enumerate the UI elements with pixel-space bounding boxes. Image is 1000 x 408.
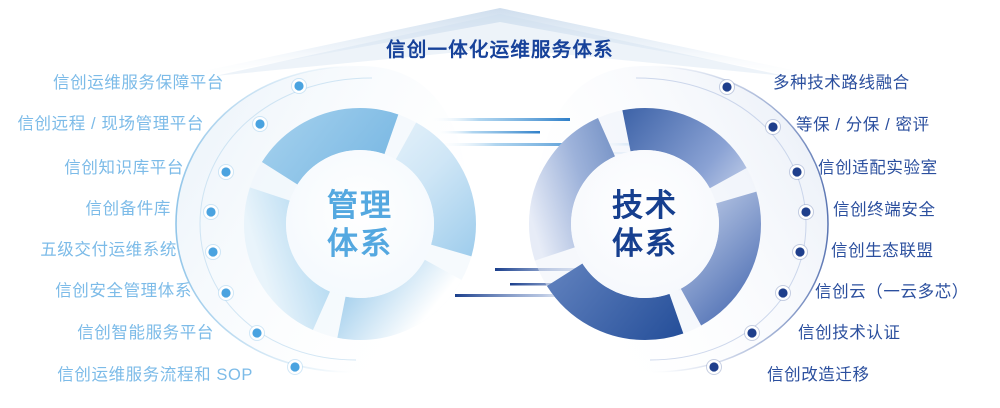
left-connector-dot[interactable]: [219, 286, 234, 301]
right-connector-dot[interactable]: [793, 245, 808, 260]
right-connector-dot[interactable]: [707, 360, 722, 375]
left-label-item[interactable]: 信创运维服务保障平台: [0, 75, 224, 92]
right-label-item[interactable]: 信创技术认证: [798, 325, 901, 342]
right-label-item[interactable]: 信创生态联盟: [831, 243, 934, 260]
left-label-item[interactable]: 信创安全管理体系: [0, 283, 192, 300]
right-ring-title: 技术 体系: [571, 187, 719, 263]
right-ring-title-line2: 体系: [571, 225, 719, 263]
left-connector-dot[interactable]: [204, 205, 219, 220]
left-label-item[interactable]: 信创备件库: [0, 201, 171, 218]
right-label-item[interactable]: 信创适配实验室: [818, 160, 938, 177]
right-connector-dot[interactable]: [776, 286, 791, 301]
infographic-canvas: 信创一体化运维服务体系 管理 体系 技术 体系 信创运维服务保障平台信创远程 /…: [0, 0, 1000, 408]
right-connector-dot[interactable]: [720, 80, 735, 95]
left-ring-title: 管理 体系: [286, 187, 434, 263]
left-connector-dot[interactable]: [219, 165, 234, 180]
left-connector-dot[interactable]: [206, 245, 221, 260]
right-label-item[interactable]: 等保 / 分保 / 密评: [796, 117, 930, 134]
left-connector-dot[interactable]: [253, 117, 268, 132]
left-connector-dot[interactable]: [250, 326, 265, 341]
left-label-item[interactable]: 信创知识库平台: [0, 160, 184, 177]
right-connector-dot[interactable]: [799, 205, 814, 220]
left-ring-title-line2: 体系: [286, 225, 434, 263]
left-label-item[interactable]: 五级交付运维系统: [0, 242, 177, 259]
right-label-item[interactable]: 多种技术路线融合: [773, 75, 910, 92]
right-label-item[interactable]: 信创改造迁移: [767, 367, 870, 384]
right-connector-dot[interactable]: [790, 165, 805, 180]
left-label-item[interactable]: 信创运维服务流程和 SOP: [0, 367, 253, 384]
right-connector-dot[interactable]: [766, 120, 781, 135]
left-ring-title-line1: 管理: [286, 187, 434, 225]
right-label-item[interactable]: 信创终端安全: [833, 202, 936, 219]
right-connector-dot[interactable]: [745, 326, 760, 341]
right-ring-title-line1: 技术: [571, 187, 719, 225]
page-title: 信创一体化运维服务体系: [0, 33, 1000, 62]
right-label-item[interactable]: 信创云（一云多芯）: [815, 284, 969, 301]
left-connector-dot[interactable]: [288, 360, 303, 375]
left-connector-dot[interactable]: [292, 79, 307, 94]
left-label-item[interactable]: 信创智能服务平台: [0, 325, 214, 342]
left-label-item[interactable]: 信创远程 / 现场管理平台: [0, 116, 204, 133]
